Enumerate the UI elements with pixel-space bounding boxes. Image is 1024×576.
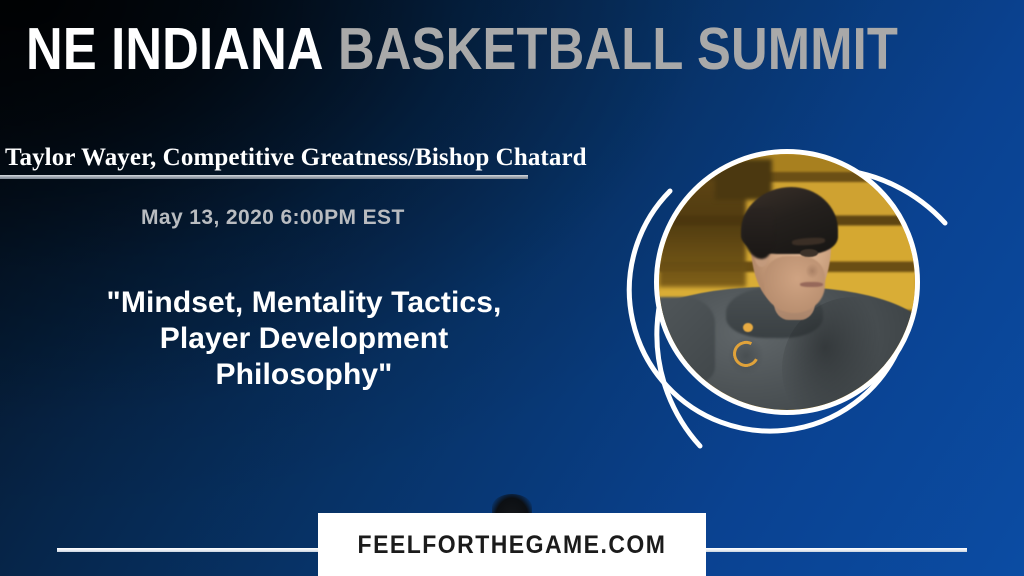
session-topic-line-1: "Mindset, Mentality Tactics, (24, 285, 584, 321)
title-part-primary: NE INDIANA (26, 16, 324, 82)
session-topic: "Mindset, Mentality Tactics, Player Deve… (24, 285, 584, 393)
hoodie-arm (659, 297, 715, 384)
portrait-group (615, 105, 995, 475)
hoodie-logo-dot-icon (743, 323, 752, 332)
nose (805, 259, 823, 279)
event-datetime: May 13, 2020 6:00PM EST (141, 206, 405, 230)
website-badge[interactable]: FEELFORTHEGAME.COM (318, 513, 706, 576)
divider-rule (0, 175, 528, 179)
poster-canvas: NE INDIANA BASKETBALL SUMMIT Taylor Waye… (0, 0, 1024, 576)
speaker-photo (654, 149, 920, 415)
title-part-secondary: BASKETBALL SUMMIT (338, 16, 898, 82)
session-topic-line-2: Player Development (24, 321, 584, 357)
session-topic-line-3: Philosophy" (24, 357, 584, 393)
speaker-photo-image (659, 154, 915, 410)
page-title: NE INDIANA BASKETBALL SUMMIT (26, 18, 898, 80)
speaker-name: Taylor Wayer, Competitive Greatness/Bish… (5, 143, 587, 172)
website-url: FEELFORTHEGAME.COM (334, 532, 691, 559)
eye (800, 249, 818, 257)
mouth (800, 282, 823, 287)
